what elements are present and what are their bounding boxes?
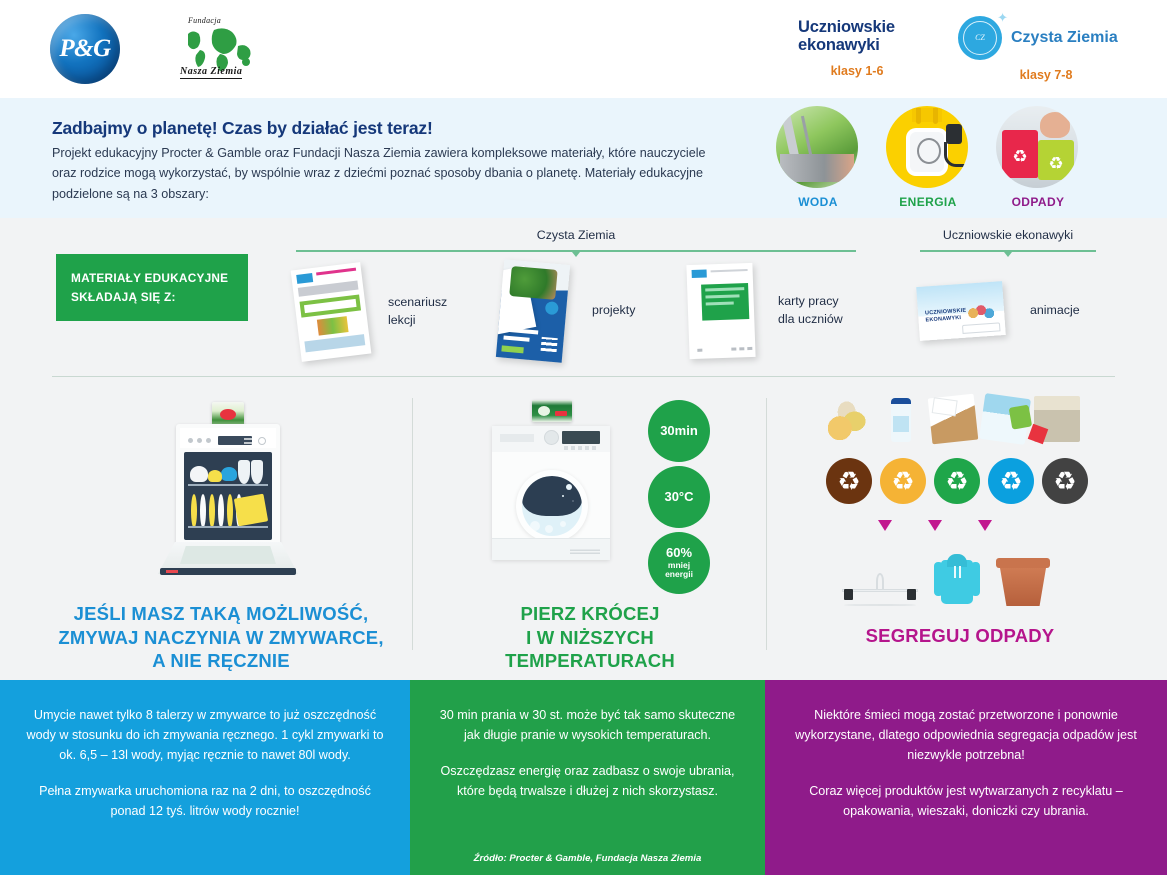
washer-title-line2: I W NIŻSZYCH [420, 626, 760, 650]
column-divider-1 [412, 398, 413, 650]
recycling-panel-paragraph-1: Niektóre śmieci mogą zostać przetworzone… [787, 706, 1145, 766]
worksheet-doc-icon [686, 263, 755, 359]
intro-title: Zadbajmy o planetę! Czas by działać jest… [52, 118, 433, 139]
water-photo-icon [776, 106, 858, 188]
group-label-czysta-ziemia: Czysta Ziemia [296, 228, 856, 242]
animation-card-icon: UCZNIOWSKIEEKONAWYKI [916, 281, 1006, 341]
czysta-ziemia-name: Czysta Ziemia [1011, 29, 1118, 47]
areas-list: WODA ENERGIA ODPADY [776, 106, 1080, 209]
czysta-ziemia-logo-icon: CZ ✦ [958, 16, 1002, 60]
material-item-animacje: UCZNIOWSKIEEKONAWYKI animacje [918, 284, 1080, 338]
washer-title: PIERZ KRÓCEJ I W NIŻSZYCH TEMPERATURACH [420, 602, 760, 673]
energy-panel-paragraph-2: Oszczędzasz energię oraz zadbasz o swoje… [432, 762, 743, 802]
caption-line2: dla uczniów [778, 311, 843, 329]
group-label-uczniowskie: Uczniowskie ekonawyki [920, 228, 1096, 242]
intro-band: Zadbajmy o planetę! Czas by działać jest… [0, 98, 1167, 218]
bio-bin-icon: ♻ [826, 458, 872, 504]
badge-60-percent: 60% mniej energii [648, 532, 710, 594]
area-energia: ENERGIA [886, 106, 970, 209]
bottom-panels: Umycie nawet tylko 8 talerzy w zmywarce … [0, 680, 1167, 875]
mixed-bin-icon: ♻ [1042, 458, 1088, 504]
metal-waste-icon [1034, 396, 1080, 442]
waste-title: SEGREGUJ ODPADY [780, 624, 1140, 648]
energy-savings-panel: 30 min prania w 30 st. może być tak samo… [410, 680, 765, 875]
area-label-odpady: ODPADY [996, 195, 1080, 209]
caption-line1: projekty [592, 302, 635, 320]
down-arrow-icon [978, 520, 992, 531]
area-label-woda: WODA [776, 195, 860, 209]
glass-bin-icon: ♻ [880, 458, 926, 504]
recycling-panel-paragraph-2: Coraz więcej produktów jest wytwarzanych… [787, 782, 1145, 822]
water-panel-paragraph-2: Pełna zmywarka uruchomiona raz na 2 dni,… [22, 782, 388, 822]
waste-photo-icon [996, 106, 1078, 188]
recycled-products-row [842, 554, 1050, 606]
project-brochure-icon [496, 259, 570, 362]
down-arrow-icon [878, 520, 892, 531]
material-item-karty-pracy: karty pracy dla uczniów [688, 264, 843, 358]
fundacja-nasza-ziemia-logo: Fundacja Nasza Ziemia [178, 16, 260, 82]
badge-60-value: 60% [666, 546, 692, 561]
fundacja-logo-bottom-text: Nasza Ziemia [180, 66, 242, 79]
material-caption-karty: karty pracy dla uczniów [778, 293, 843, 328]
ariel-pods-box-icon [532, 400, 572, 422]
badge-30min-text: 30min [660, 424, 698, 439]
material-item-projekty: projekty [500, 262, 635, 360]
caption-line1: karty pracy [778, 293, 843, 311]
trash-items-row [826, 396, 1080, 442]
czysta-ziemia-classes-label: klasy 7-8 [958, 68, 1096, 82]
intro-body-text: Projekt edukacyjny Procter & Gamble oraz… [52, 143, 732, 204]
material-item-scenariusz: scenariusz lekcji [296, 266, 447, 358]
column-divider-2 [766, 398, 767, 650]
water-savings-panel: Umycie nawet tylko 8 talerzy w zmywarce … [0, 680, 410, 875]
plastic-bottle-icon [891, 398, 911, 442]
materials-box-line1: MATERIAŁY EDUKACYJNE [71, 269, 228, 287]
paper-bin-icon: ♻ [988, 458, 1034, 504]
material-caption-projekty: projekty [592, 302, 635, 320]
water-panel-paragraph-1: Umycie nawet tylko 8 talerzy w zmywarce … [22, 706, 388, 766]
lesson-plan-doc-icon [291, 262, 372, 362]
badge-30min: 30min [648, 400, 710, 462]
washer-title-line3: TEMPERATURACH [420, 649, 760, 673]
plastic-waste-icon [979, 393, 1031, 445]
washing-machine-icon [492, 400, 610, 580]
pg-logo: P&G [50, 14, 120, 84]
dishwasher-title-line2: ZMYWAJ NACZYNIA W ZMYWARCE, [30, 626, 412, 650]
clothes-hanger-icon [842, 562, 918, 606]
uczniowskie-ekonawyki-name: Uczniowskie ekonawyki [798, 18, 948, 55]
washing-badges: 30min 30°C 60% mniej energii [648, 400, 712, 598]
area-woda: WODA [776, 106, 860, 209]
hoodie-icon [934, 554, 980, 606]
down-arrows-row [878, 520, 992, 531]
material-caption-scenariusz: scenariusz lekcji [388, 294, 447, 329]
uczniowskie-line2: ekonawyki [798, 36, 948, 54]
caption-line2: lekcji [388, 312, 447, 330]
badge-60-label2: energii [665, 570, 693, 580]
badge-30c-text: 30°C [664, 490, 693, 505]
recycling-bins-row: ♻ ♻ ♻ ♻ ♻ [826, 458, 1088, 504]
paper-waste-icon [928, 394, 979, 445]
czysta-ziemia-logo-mark: CZ [963, 21, 997, 55]
dishwasher-title-line1: JEŚLI MASZ TAKĄ MOŻLIWOŚĆ, [30, 602, 412, 626]
dishwasher-icon [158, 402, 298, 577]
czysta-ziemia-brand: CZ ✦ Czysta Ziemia klasy 7-8 [958, 16, 1158, 82]
flower-pot-icon [996, 558, 1050, 606]
materials-box-line2: SKŁADAJĄ SIĘ Z: [71, 288, 228, 306]
section-divider [52, 376, 1115, 377]
badge-30c: 30°C [648, 466, 710, 528]
materials-label-box: MATERIAŁY EDUKACYJNE SKŁADAJĄ SIĘ Z: [56, 254, 248, 321]
uczniowskie-classes-label: klasy 1-6 [798, 64, 948, 78]
dishwasher-title: JEŚLI MASZ TAKĄ MOŻLIWOŚĆ, ZMYWAJ NACZYN… [30, 602, 412, 673]
caption-line1: animacje [1030, 302, 1080, 320]
food-waste-icon [826, 396, 872, 442]
washer-title-line1: PIERZ KRÓCEJ [420, 602, 760, 626]
material-caption-animacje: animacje [1030, 302, 1080, 320]
area-label-energia: ENERGIA [886, 195, 970, 209]
green-glass-bin-icon: ♻ [934, 458, 980, 504]
recycling-panel: Niektóre śmieci mogą zostać przetworzone… [765, 680, 1167, 875]
uczniowskie-line1: Uczniowskie [798, 18, 948, 36]
down-arrow-icon [928, 520, 942, 531]
source-attribution: Źródło: Procter & Gamble, Fundacja Nasza… [410, 853, 765, 864]
pg-logo-text: P&G [50, 14, 120, 84]
top-logo-bar: P&G Fundacja Nasza Ziemia Uczniowskie ek… [0, 0, 1167, 98]
energy-panel-paragraph-1: 30 min prania w 30 st. może być tak samo… [432, 706, 743, 746]
energy-photo-icon [886, 106, 968, 188]
area-odpady: ODPADY [996, 106, 1080, 209]
uczniowskie-ekonawyki-brand: Uczniowskie ekonawyki klasy 1-6 [798, 18, 948, 78]
sparkle-icon: ✦ [997, 10, 1008, 26]
dishwasher-title-line3: A NIE RĘCZNIE [30, 649, 412, 673]
caption-line1: scenariusz [388, 294, 447, 312]
